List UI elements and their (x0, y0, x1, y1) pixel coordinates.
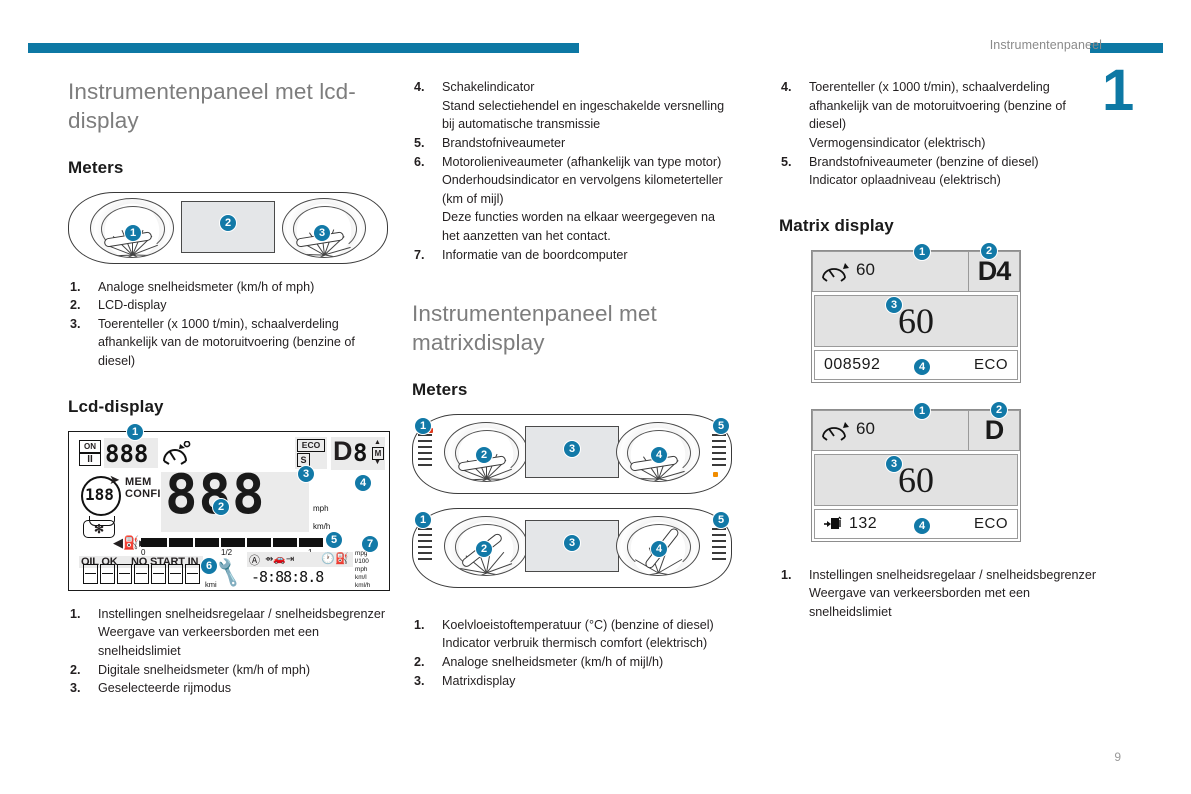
list-line: Vermogensindicator (elektrisch) (809, 134, 1112, 153)
callout-badge-1: 1 (414, 511, 432, 529)
list-item: 2. Analoge snelheidsmeter (km/h of mijl/… (412, 653, 745, 672)
list-line: snelheidslimiet (98, 642, 401, 661)
list-item: 7. Informatie van de boordcomputer (412, 246, 745, 265)
section-title-lcd: Instrumentenpaneel met lcd-display (68, 78, 401, 136)
callout-badge-7: 7 (361, 535, 379, 553)
cruise-control-icon (821, 421, 851, 442)
matrix-odometer: 008592 (824, 356, 880, 374)
list-line: Schakelindicator (442, 78, 745, 97)
list-item: 3. Toerenteller (x 1000 t/min), schaalve… (68, 315, 401, 371)
lcd-trip-time: -8:88:8.8 (251, 568, 323, 586)
callout-badge-1: 1 (414, 417, 432, 435)
list-line: afhankelijk van de motoruitvoering (benz… (98, 333, 401, 352)
coolant-temp-gauge (418, 432, 432, 470)
figure-cluster-matrix-thermal: 1 2 3 4 5 (412, 414, 745, 494)
callout-badge-4: 4 (913, 517, 931, 535)
matrix-speed-row: 60 (814, 454, 1018, 506)
heading-meters-col2: Meters (412, 380, 745, 400)
chevron-up-icon: ▲ (374, 439, 381, 446)
list-line: Indicator verbruik thermisch comfort (el… (442, 634, 745, 653)
lcd-display-illustration: ON II 888 ECO S D 8 M ▲ ▼ (68, 431, 390, 591)
callout-badge-3: 3 (885, 455, 903, 473)
figure-matrix-display-1: 60 70 D4 60 008592 ECO 1 2 3 4 (811, 250, 1112, 383)
figure-cluster-lcd: 1 2 3 (68, 192, 401, 264)
callout-badge-4: 4 (650, 540, 668, 558)
list-item: 2. Digitale snelheidsmeter (km/h of mph) (68, 661, 401, 680)
matrix-cruise-value: 60 (856, 260, 875, 280)
heading-matrix-display: Matrix display (779, 216, 1112, 236)
list-number: 3. (414, 672, 434, 691)
section-title-matrix: Instrumentenpaneel met matrixdisplay (412, 300, 745, 358)
list-item: 6. Motorolieniveaumeter (afhankelijk van… (412, 153, 745, 246)
list-line: Onderhoudsindicator en vervolgens kilome… (442, 171, 745, 190)
lcd-fuel-bar (141, 538, 323, 547)
snowflake-icon: ✻ (83, 520, 115, 538)
list-item: 2. LCD-display (68, 296, 401, 315)
lcd-eco-label: ECO (297, 439, 325, 452)
list-item: 5. Brandstofniveaumeter (412, 134, 745, 153)
lcd-unit-kml: km/l (355, 574, 367, 582)
callout-badge-2: 2 (475, 446, 493, 464)
list-line: Brandstofniveaumeter (benzine of diesel) (809, 153, 1112, 172)
list-number: 3. (70, 315, 90, 334)
list-line: (km of mijl) (442, 190, 745, 209)
list-line: Instellingen snelheidsregelaar / snelhei… (809, 566, 1112, 585)
lcd-on-indicator: ON (79, 440, 101, 453)
instrument-cluster-illustration: 1 2 3 4 5 (412, 508, 732, 588)
list-line: diesel) (809, 115, 1112, 134)
lcd-odometer-digits (83, 564, 200, 584)
column-two: 4. Schakelindicator Stand selectiehendel… (412, 78, 745, 690)
lcd-gear-digit: 8 (353, 439, 367, 467)
callout-badge-1: 1 (124, 224, 142, 242)
callout-badge-3: 3 (885, 296, 903, 314)
matrix-display-illustration: 60 70 D4 60 008592 ECO 1 2 3 4 (811, 250, 1021, 383)
list-line: Toerenteller (x 1000 t/min), schaalverde… (809, 78, 1112, 97)
matrix-display-illustration: 60 70 D 60 132 ECO 1 (811, 409, 1021, 542)
callout-badge-4: 4 (650, 446, 668, 464)
figure-lcd-display: ON II 888 ECO S D 8 M ▲ ▼ (68, 431, 401, 591)
list-line: Indicator oplaadniveau (elektrisch) (809, 171, 1112, 190)
list-number: 4. (414, 78, 434, 97)
list-number: 2. (414, 653, 434, 672)
list-matrix-col3: 1. Instellingen snelheidsregelaar / snel… (779, 566, 1112, 622)
callout-badge-3: 3 (563, 534, 581, 552)
callout-badge-4: 4 (913, 358, 931, 376)
callout-badge-1: 1 (913, 243, 931, 261)
list-lcd-col1: 1. Instellingen snelheidsregelaar / snel… (68, 605, 401, 698)
chevron-down-icon: ▼ (374, 459, 381, 466)
list-line: Analoge snelheidsmeter (km/h of mph) (98, 278, 401, 297)
matrix-speed-value: 60 (898, 462, 934, 498)
list-line: bij automatische transmissie (442, 115, 745, 134)
clock-icon: 🕐 (321, 552, 335, 565)
arrow-icon: ➤ (109, 472, 120, 488)
list-number: 2. (70, 661, 90, 680)
lcd-mem-label: MEM (125, 476, 152, 488)
list-line: Digitale snelheidsmeter (km/h of mph) (98, 661, 401, 680)
list-line: LCD-display (98, 296, 401, 315)
heading-lcd-display: Lcd-display (68, 397, 401, 417)
list-number: 1. (781, 566, 801, 585)
list-continued-col2: 4. Schakelindicator Stand selectiehendel… (412, 78, 745, 264)
matrix-range-value: 132 (849, 515, 877, 533)
callout-badge-2: 2 (212, 498, 230, 516)
matrix-eco-label: ECO (974, 515, 1008, 532)
header-accent-bar-left (28, 43, 579, 53)
list-line: Weergave van verkeersborden met een (809, 584, 1112, 603)
list-number: 3. (70, 679, 90, 698)
callout-badge-2: 2 (980, 242, 998, 260)
callout-badge-3: 3 (563, 440, 581, 458)
page-number: 9 (1114, 750, 1121, 764)
instrument-cluster-illustration: 1 2 3 (68, 192, 388, 264)
list-number: 1. (70, 278, 90, 297)
list-line: Deze functies worden na elkaar weergegev… (442, 208, 745, 227)
list-item: 1. Instellingen snelheidsregelaar / snel… (779, 566, 1112, 622)
matrix-cruise-value: 60 (856, 419, 875, 439)
matrix-eco-label: ECO (974, 356, 1008, 373)
fuel-warning-dot (713, 472, 718, 477)
thermal-comfort-gauge (418, 526, 432, 564)
list-continued-col3: 4. Toerenteller (x 1000 t/min), schaalve… (779, 78, 1112, 190)
list-item: 4. Toerenteller (x 1000 t/min), schaalve… (779, 78, 1112, 153)
car-icon: ⇴🚗⇥ (265, 554, 294, 565)
lcd-unit-mph2: mph (355, 566, 367, 574)
callout-badge-3: 3 (313, 224, 331, 242)
lcd-pause-icon: II (79, 453, 101, 466)
figure-cluster-matrix-electric: 1 2 3 4 5 (412, 508, 745, 588)
callout-badge-2: 2 (990, 401, 1008, 419)
matrix-speed-value: 60 (898, 303, 934, 339)
callout-badge-5: 5 (712, 417, 730, 435)
callout-badge-6: 6 (200, 557, 218, 575)
callout-badge-4: 4 (354, 474, 372, 492)
list-number: 5. (414, 134, 434, 153)
column-one: Instrumentenpaneel met lcd-display Meter… (68, 78, 401, 698)
list-line: Toerenteller (x 1000 t/min), schaalverde… (98, 315, 401, 334)
list-line: diesel) (98, 352, 401, 371)
lcd-unit-l100: l/100 (355, 558, 369, 566)
list-line: Motorolieniveaumeter (afhankelijk van ty… (442, 153, 745, 172)
instrument-cluster-illustration: 1 2 3 4 5 (412, 414, 732, 494)
list-item: 1. Analoge snelheidsmeter (km/h of mph) (68, 278, 401, 297)
figure-matrix-display-2: 60 70 D 60 132 ECO 1 (811, 409, 1112, 542)
list-number: 1. (414, 616, 434, 635)
list-line: Informatie van de boordcomputer (442, 246, 745, 265)
list-number: 2. (70, 296, 90, 315)
list-line: Matrixdisplay (442, 672, 745, 691)
list-item: 3. Geselecteerde rijmodus (68, 679, 401, 698)
list-line: het aanzetten van het contact. (442, 227, 745, 246)
lcd-unit-kmh: km/h (313, 522, 330, 531)
list-line: Geselecteerde rijmodus (98, 679, 401, 698)
list-line: afhankelijk van de motoruitvoering (benz… (809, 97, 1112, 116)
list-number: 5. (781, 153, 801, 172)
list-item: 1. Koelvloeistoftemperatuur (°C) (benzin… (412, 616, 745, 653)
matrix-range-group: 132 (824, 515, 877, 533)
list-line: Brandstofniveaumeter (442, 134, 745, 153)
list-line: Weergave van verkeersborden met een (98, 623, 401, 642)
page-header-title: Instrumentenpaneel (990, 38, 1102, 52)
callout-badge-1: 1 (126, 423, 144, 441)
list-number: 6. (414, 153, 434, 172)
matrix-speed-row: 60 (814, 295, 1018, 347)
list-meters-col1: 1. Analoge snelheidsmeter (km/h of mph) … (68, 278, 401, 371)
auto-stop-start-icon: Ⓐ (249, 552, 260, 568)
list-line: snelheidslimiet (809, 603, 1112, 622)
list-item: 5. Brandstofniveaumeter (benzine of dies… (779, 153, 1112, 190)
callout-badge-1: 1 (913, 402, 931, 420)
list-item: 4. Schakelindicator Stand selectiehendel… (412, 78, 745, 134)
callout-badge-5: 5 (712, 511, 730, 529)
list-line: Analoge snelheidsmeter (km/h of mijl/h) (442, 653, 745, 672)
list-number: 4. (781, 78, 801, 97)
heading-meters-col1: Meters (68, 158, 401, 178)
charge-level-gauge (712, 526, 726, 564)
list-line: Stand selectiehendel en ingeschakelde ve… (442, 97, 745, 116)
lcd-unit-mph: mph (313, 504, 329, 513)
list-item: 1. Instellingen snelheidsregelaar / snel… (68, 605, 401, 661)
callout-badge-3: 3 (297, 465, 315, 483)
fuel-station-icon: ⛽ (335, 552, 349, 565)
lcd-cruise-digits: 888 (105, 440, 148, 468)
cruise-control-icon (821, 262, 851, 283)
fuel-level-gauge (712, 432, 726, 470)
callout-badge-5: 5 (325, 531, 343, 549)
lcd-gear-letter: D (333, 438, 353, 465)
list-number: 7. (414, 246, 434, 265)
column-three: 4. Toerenteller (x 1000 t/min), schaalve… (779, 78, 1112, 622)
list-line: Instellingen snelheidsregelaar / snelhei… (98, 605, 401, 624)
fuel-range-icon (824, 516, 844, 531)
callout-badge-2: 2 (475, 540, 493, 558)
lcd-unit-kmlh: kml/h (355, 582, 370, 590)
list-item: 3. Matrixdisplay (412, 672, 745, 691)
list-number: 1. (70, 605, 90, 624)
list-meters-col2: 1. Koelvloeistoftemperatuur (°C) (benzin… (412, 616, 745, 691)
list-line: Koelvloeistoftemperatuur (°C) (benzine o… (442, 616, 745, 635)
callout-badge-2: 2 (219, 214, 237, 232)
